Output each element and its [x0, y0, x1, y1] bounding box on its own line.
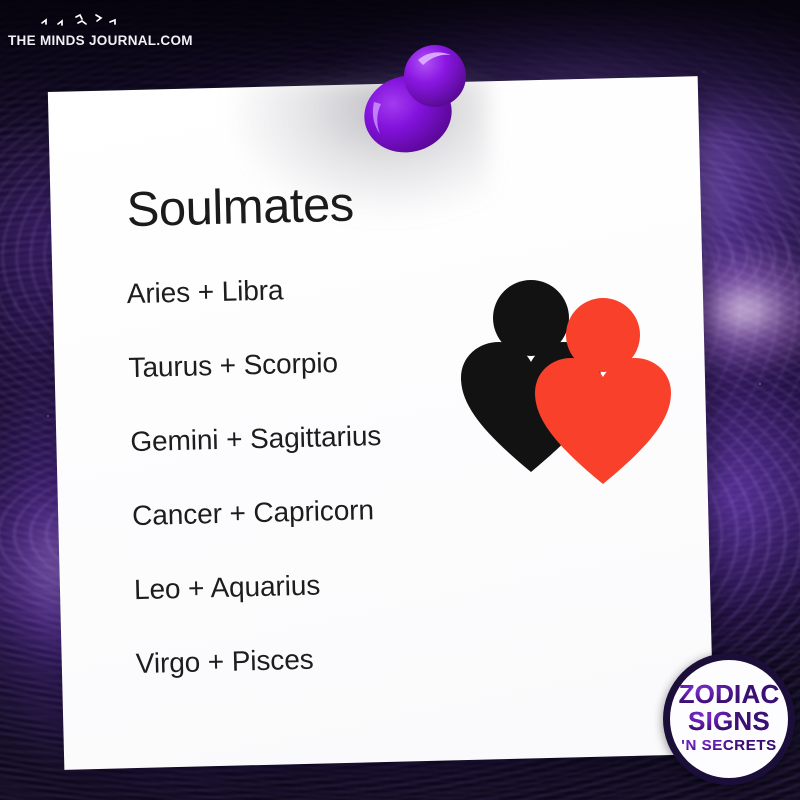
list-item: Virgo + Pisces: [135, 637, 682, 678]
list-item: Leo + Aquarius: [134, 563, 681, 604]
zodiac-signs-logo[interactable]: ZODIAC SIGNS 'N SECRETS: [663, 653, 795, 785]
watermark-text: THE MINDS JOURNAL.COM: [8, 33, 208, 48]
right-figure-heart: [535, 358, 671, 484]
couple-hearts-icon: [455, 272, 687, 500]
flying-birds-icon: [36, 12, 166, 32]
page-title: Soulmates: [126, 169, 671, 238]
logo-line-2: SIGNS: [688, 708, 770, 735]
logo-line-3: 'N SECRETS: [681, 735, 776, 758]
poster-canvas: THE MINDS JOURNAL.COM Soulmates Aries + …: [0, 0, 800, 800]
badge-face: ZODIAC SIGNS 'N SECRETS: [670, 660, 788, 778]
site-watermark: THE MINDS JOURNAL.COM: [8, 12, 208, 48]
logo-line-1: ZODIAC: [679, 681, 780, 708]
pushpin-icon: [352, 36, 476, 162]
